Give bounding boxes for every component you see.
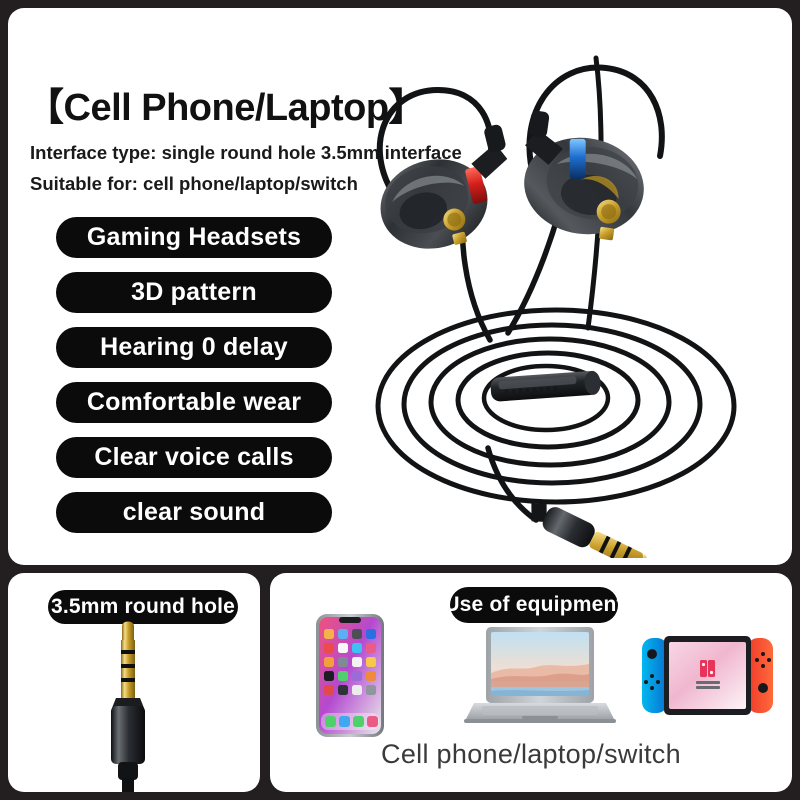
suitable-for-text: Suitable for: cell phone/laptop/switch: [30, 173, 358, 195]
devices-panel: Use of equipment: [270, 573, 792, 792]
jack-panel: 3.5mm round hole: [8, 573, 260, 792]
jack-plug-illustration: [8, 618, 260, 792]
feature-pill-clear-voice-calls: Clear voice calls: [56, 437, 332, 478]
feature-pill-clear-sound: clear sound: [56, 492, 332, 533]
feature-pill-gaming-headsets: Gaming Headsets: [56, 217, 332, 258]
feature-pill-3d-pattern: 3D pattern: [56, 272, 332, 313]
devices-caption: Cell phone/laptop/switch: [270, 739, 792, 770]
switch-icon: [640, 628, 775, 723]
cell-phone-icon: [315, 613, 385, 738]
product-infographic: 【Cell Phone/Laptop】 Interface type: sing…: [0, 0, 800, 800]
laptop-icon: [460, 621, 620, 736]
use-of-equipment-pill-label: Use of equipment: [450, 587, 618, 623]
main-panel: 【Cell Phone/Laptop】 Interface type: sing…: [8, 8, 792, 565]
product-photo: [338, 28, 788, 558]
feature-pill-hearing-0-delay: Hearing 0 delay: [56, 327, 332, 368]
feature-pill-comfortable-wear: Comfortable wear: [56, 382, 332, 423]
